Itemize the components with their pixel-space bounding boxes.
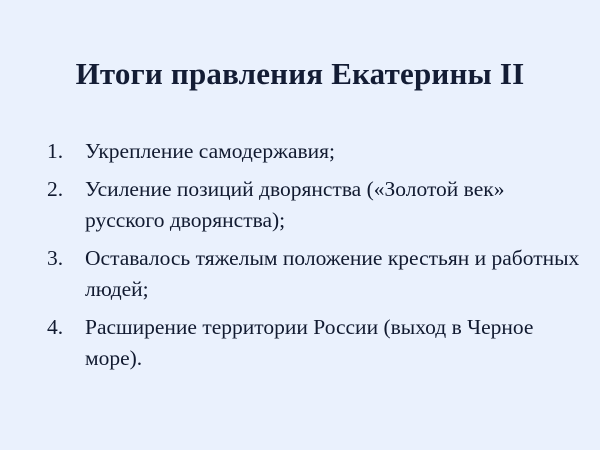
list-item-number: 2. <box>47 174 75 205</box>
list-item-number: 4. <box>47 312 75 343</box>
list-item-label: Оставалось тяжелым положение крестьян и … <box>85 243 584 305</box>
list-item-number: 1. <box>47 136 75 167</box>
list-item: 2. Усиление позиций дворянства («Золотой… <box>44 174 584 236</box>
list-item-number: 3. <box>47 243 75 274</box>
list-item-label: Расширение территории России (выход в Че… <box>85 312 584 374</box>
list-item-label: Усиление позиций дворянства («Золотой ве… <box>85 174 584 236</box>
page-title: Итоги правления Екатерины II <box>0 54 600 94</box>
list-item: 1. Укрепление самодержавия; <box>44 136 584 167</box>
outcomes-numbered-list: 1. Укрепление самодержавия; 2. Усиление … <box>44 136 584 374</box>
list-item-label: Укрепление самодержавия; <box>85 136 584 167</box>
list-item: 4. Расширение территории России (выход в… <box>44 312 584 374</box>
slide-content-body: 1. Укрепление самодержавия; 2. Усиление … <box>44 136 584 374</box>
presentation-slide: Итоги правления Екатерины II 1. Укреплен… <box>0 0 600 450</box>
list-item: 3. Оставалось тяжелым положение крестьян… <box>44 243 584 305</box>
